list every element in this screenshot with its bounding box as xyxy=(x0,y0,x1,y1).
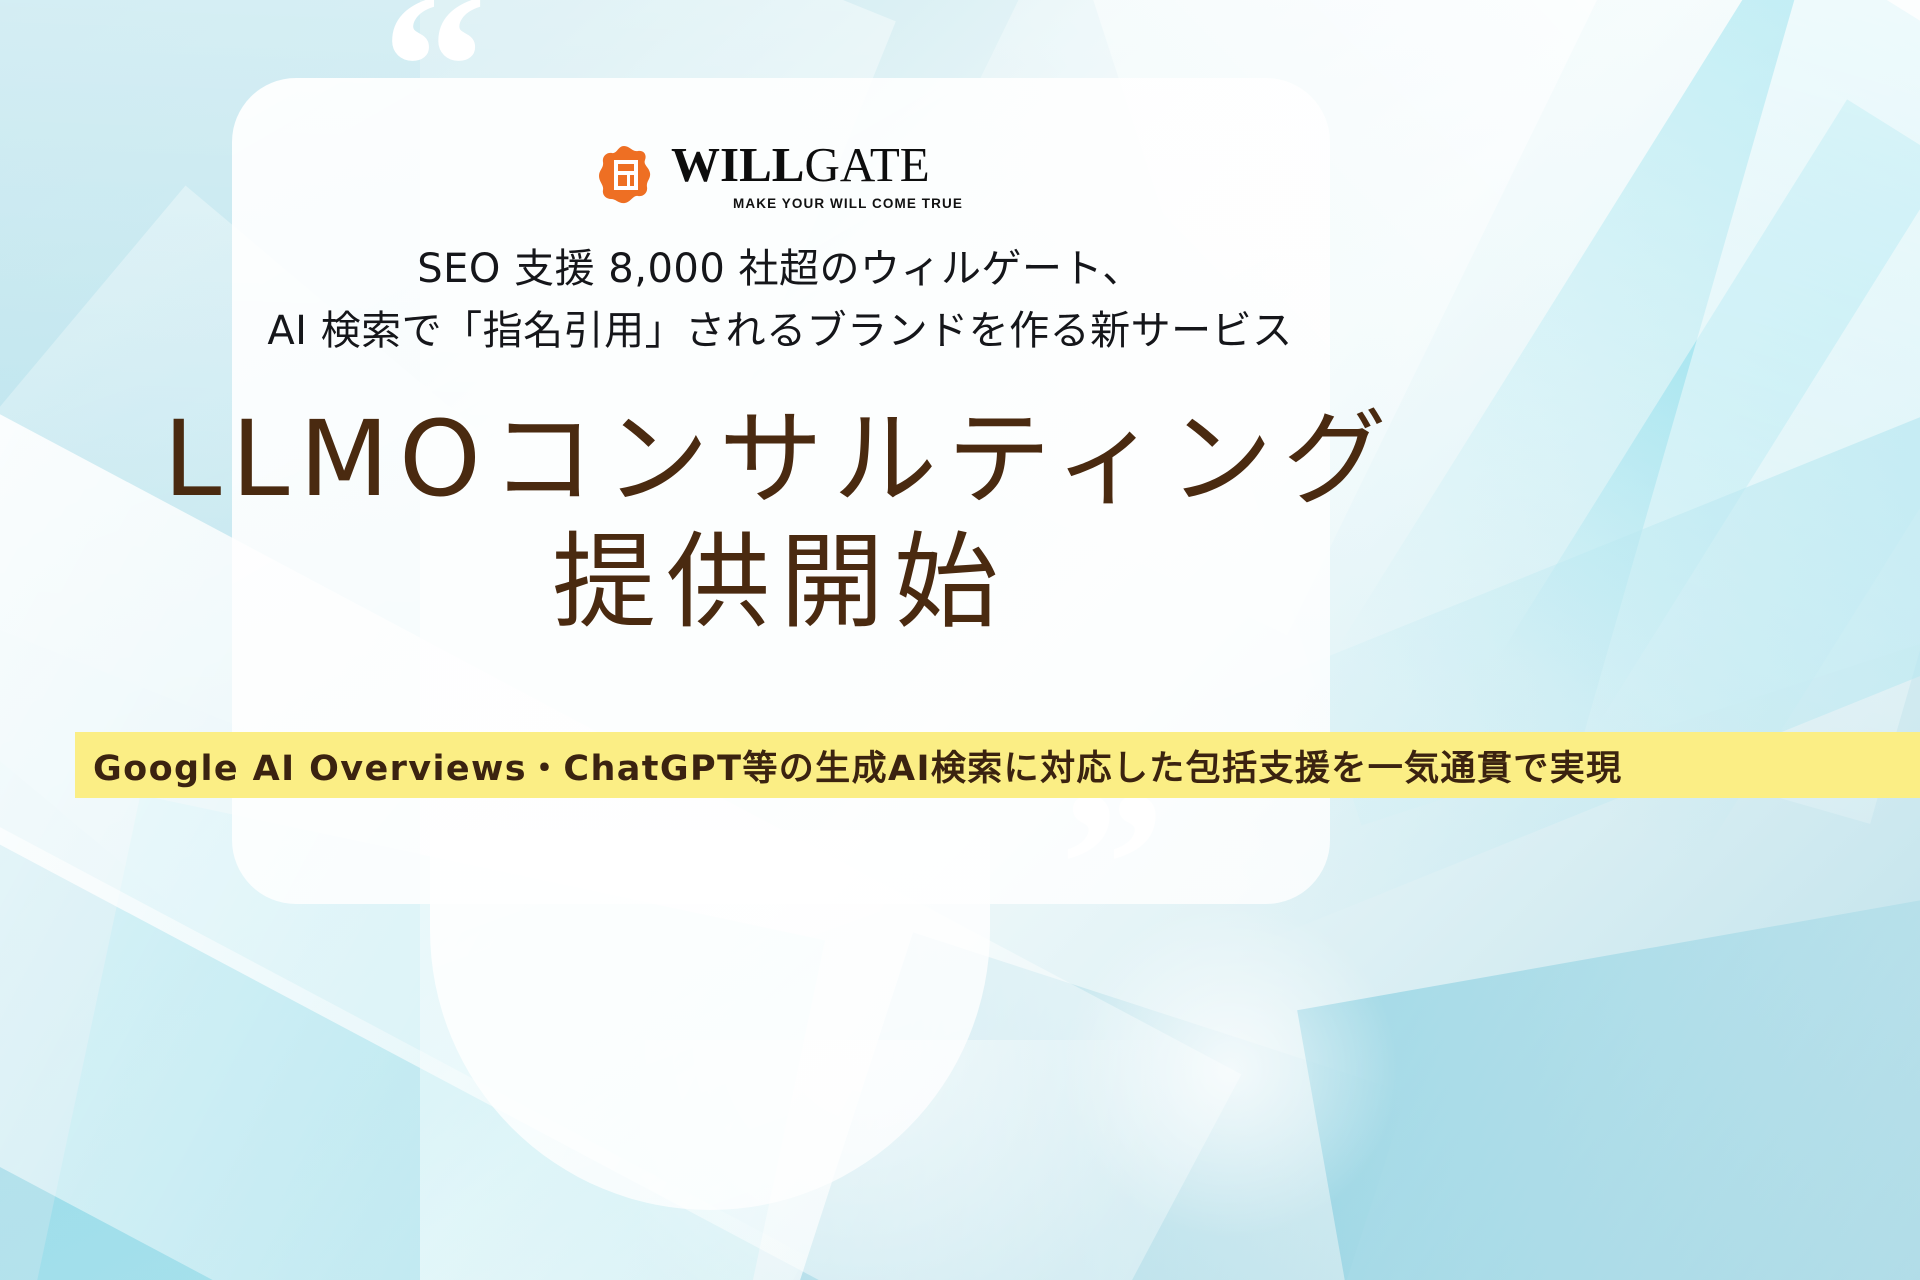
subtitle: SEO 支援 8,000 社超のウィルゲート、 AI 検索で「指名引用」されるブ… xyxy=(0,238,1560,362)
headline-line-2: 提供開始 xyxy=(0,521,1560,644)
subtitle-line-1: SEO 支援 8,000 社超のウィルゲート、 xyxy=(0,238,1560,300)
willgate-shield-icon xyxy=(597,145,655,207)
subtitle-line-2: AI 検索で「指名引用」されるブランドを作る新サービス xyxy=(0,300,1560,362)
brand-name-will: WILL xyxy=(671,137,804,192)
brand-wordmark: WILLGATE xyxy=(671,140,930,189)
headline-line-1: LLMOコンサルティング xyxy=(0,398,1560,521)
highlight-ribbon: Google AI Overviews・ChatGPT等の生成AI検索に対応した… xyxy=(75,732,1920,798)
brand-logo: WILLGATE MAKE YOUR WILL COME TRUE xyxy=(0,140,1560,211)
key-visual-stage: “ ” WILLGATE MAKE YOUR WILL COME TRUE SE… xyxy=(0,0,1920,1280)
ribbon-text: Google AI Overviews・ChatGPT等の生成AI検索に対応した… xyxy=(75,740,1623,791)
content-area: WILLGATE MAKE YOUR WILL COME TRUE SEO 支援… xyxy=(0,0,1920,1280)
page-title: LLMOコンサルティング 提供開始 xyxy=(0,398,1560,643)
brand-tagline: MAKE YOUR WILL COME TRUE xyxy=(733,196,963,211)
brand-name-gate: GATE xyxy=(804,137,929,192)
